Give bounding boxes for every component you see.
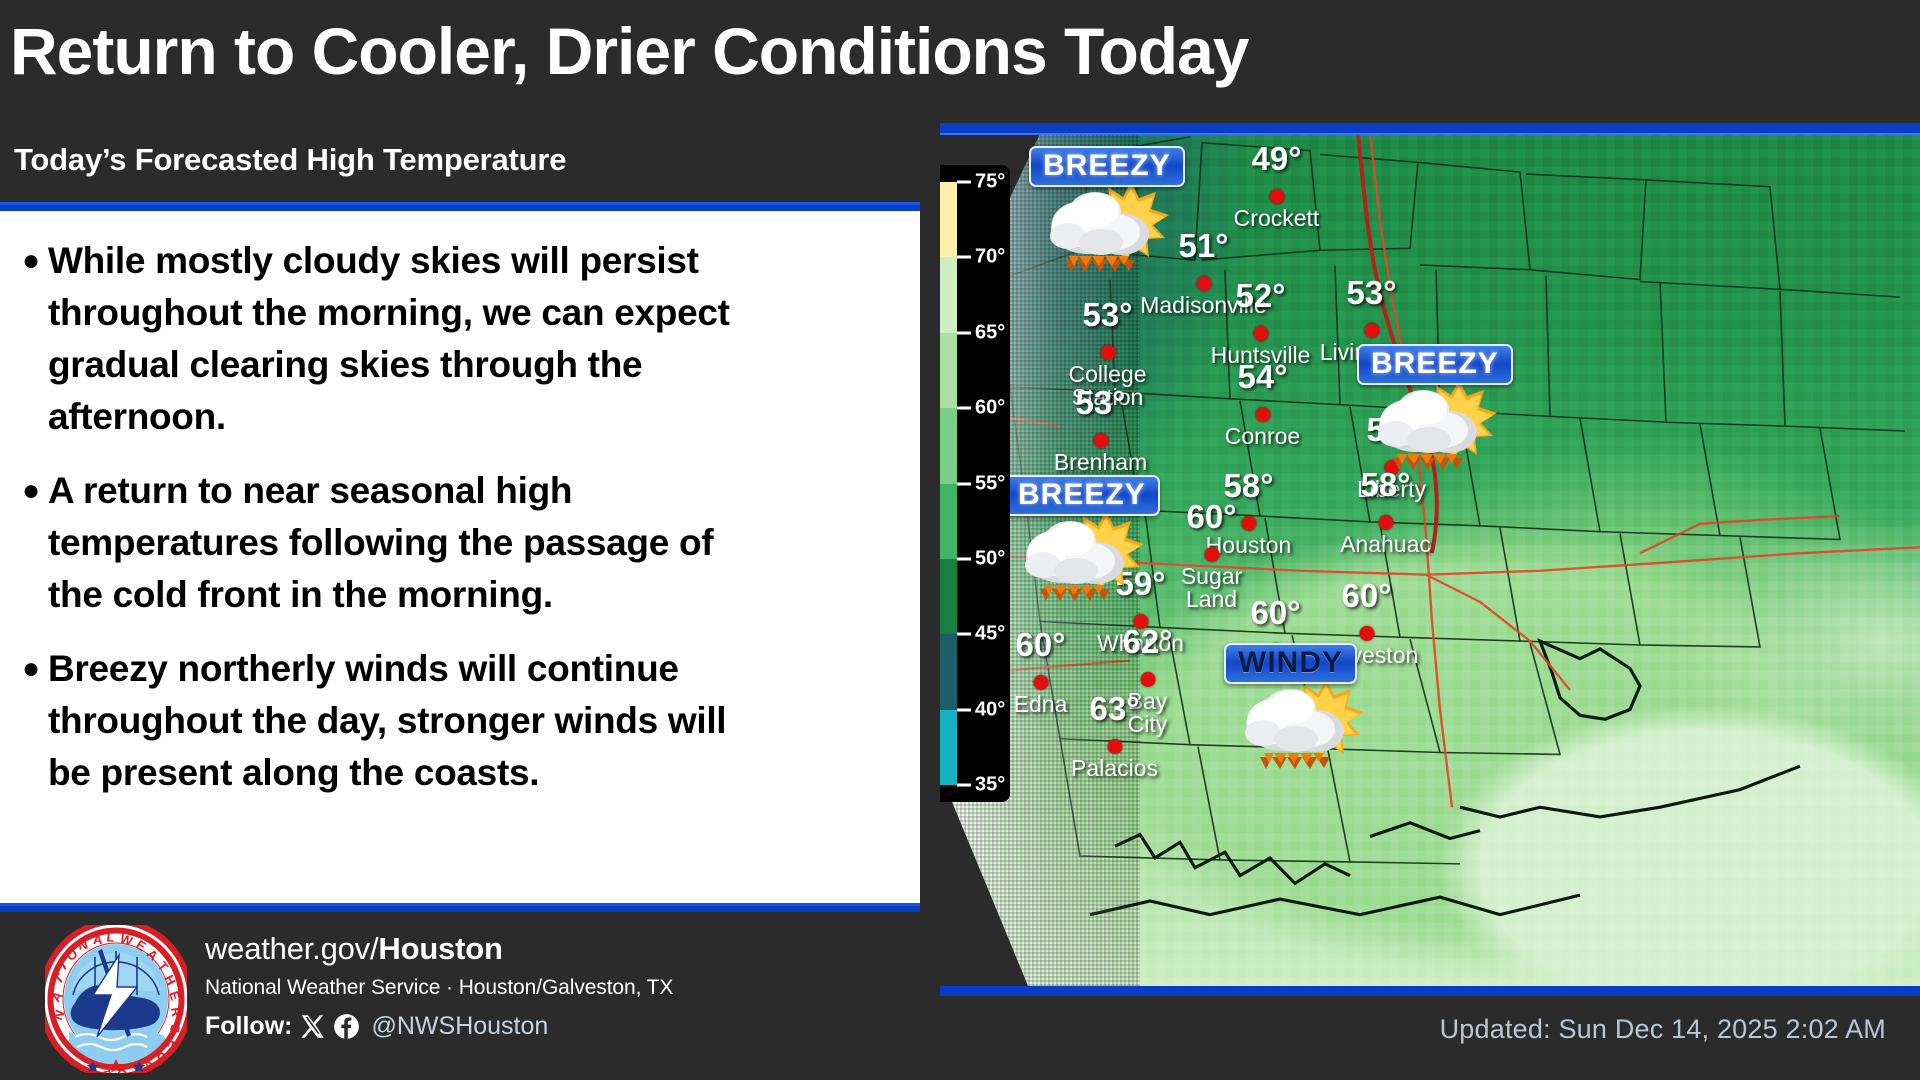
updated-timestamp: Updated: Sun Dec 14, 2025 2:02 AM [1440, 1014, 1886, 1045]
city-temperature-marker: 52°Huntsville [1260, 326, 1261, 327]
colorbar-band [940, 710, 957, 785]
forecast-map-panel: BREEZY BREEZY BREEZY [940, 123, 1920, 996]
city-temperature-marker: 49°Crockett [1276, 189, 1277, 190]
wind-badge-label: BREEZY [1029, 146, 1185, 187]
header-divider [0, 202, 920, 211]
city-point-icon [1093, 433, 1108, 448]
colorbar-band [940, 484, 957, 559]
city-temperature-value: 53° [1076, 384, 1126, 422]
city-temperature-marker: 60°SugarLand [1211, 547, 1212, 548]
colorbar-tick-label: 40° [975, 698, 1005, 721]
city-temperature-value: 60° [1187, 498, 1237, 536]
wind-condition-badge: WINDY [1224, 643, 1357, 684]
footer-url[interactable]: weather.gov/Houston [205, 931, 905, 967]
colorbar-tick-label: 75° [975, 171, 1005, 194]
city-temperature-marker: 60°Edna [1040, 675, 1041, 676]
colorbar-tick-label: 50° [975, 547, 1005, 570]
footer-office: National Weather Service · Houston/Galve… [205, 976, 905, 1000]
city-temperature-value: 60° [1251, 594, 1301, 632]
city-temperature-marker: 51°Madisonville [1203, 276, 1204, 277]
city-point-icon [1378, 515, 1393, 530]
wind-badge-label: WINDY [1224, 643, 1357, 684]
city-name-label: Edna [1014, 693, 1068, 716]
follow-label: Follow: [205, 1012, 292, 1041]
social-handle[interactable]: @NWSHouston [371, 1012, 548, 1041]
colorbar-band [940, 634, 957, 709]
city-temperature-value: 53° [1083, 296, 1133, 334]
colorbar-band [940, 408, 957, 483]
colorbar-tick-mark [957, 708, 971, 711]
city-point-icon [1255, 407, 1270, 422]
svg-text:A: A [93, 932, 103, 947]
x-twitter-icon[interactable] [299, 1013, 326, 1040]
colorbar-band [940, 182, 957, 257]
colorbar-tick-label: 65° [975, 321, 1005, 344]
city-point-icon [1107, 739, 1122, 754]
wind-badge-label: BREEZY [1357, 344, 1513, 385]
colorbar-band [940, 333, 957, 408]
footer-url-plain: weather.gov/ [205, 931, 378, 966]
discussion-panel: ●While mostly cloudy skies will persist … [0, 211, 920, 903]
city-point-icon [1364, 323, 1379, 338]
colorbar-tick-label: 35° [975, 774, 1005, 797]
nws-logo: N A T I O N A L W E A T H E R S E [45, 925, 187, 1073]
bullet-text: A return to near seasonal high temperatu… [48, 465, 914, 621]
bullet-text: Breezy northerly winds will continue thr… [48, 643, 914, 799]
city-temperature-value: 63° [1090, 690, 1140, 728]
temperature-colorbar: High Temperature (F) 75°70°65°60°55°50°4… [940, 165, 1010, 802]
footer-bar: N A T I O N A L W E A T H E R S E [0, 903, 920, 1080]
colorbar-tick-mark [957, 482, 971, 485]
city-temperature-marker: 62°BayCity [1147, 672, 1148, 673]
wind-badge-label: BREEZY [1004, 475, 1160, 516]
colorbar-gradient [940, 182, 957, 785]
wind-condition-badge: BREEZY [1029, 146, 1185, 187]
city-point-icon [1253, 326, 1268, 341]
city-temperature-value: 49° [1252, 140, 1302, 178]
city-temperature-marker: 53°Brenham [1100, 433, 1101, 434]
city-name-label: Anahuac [1340, 533, 1431, 556]
colorbar-tick-label: 55° [975, 472, 1005, 495]
city-temperature-value: 60° [1342, 577, 1392, 615]
city-temperature-marker: 58°Houston [1248, 516, 1249, 517]
colorbar-tick-labels: 75°70°65°60°55°50°45°40°35° [957, 182, 1010, 785]
city-temperature-value: 53° [1347, 274, 1397, 312]
bullet-list: ●While mostly cloudy skies will persist … [14, 235, 914, 821]
bullet-item: ●Breezy northerly winds will continue th… [14, 643, 914, 799]
colorbar-tick-mark [957, 256, 971, 259]
bullet-dot-icon: ● [14, 643, 48, 695]
colorbar-tick-mark [957, 557, 971, 560]
colorbar-tick-label: 70° [975, 246, 1005, 269]
city-temperature-marker: 59°Wharton [1140, 614, 1141, 615]
city-temperature-value: 62° [1123, 623, 1173, 661]
colorbar-tick-mark [957, 407, 971, 410]
city-name-label: Brenham [1054, 451, 1147, 474]
facebook-icon[interactable] [333, 1013, 360, 1040]
city-point-icon [1100, 345, 1115, 360]
city-point-icon [1196, 276, 1211, 291]
city-point-icon [1359, 626, 1374, 641]
city-temperature-marker: 60°Galveston [1366, 626, 1367, 627]
city-temperature-value: 51° [1179, 227, 1229, 265]
bullet-text: While mostly cloudy skies will persist t… [48, 235, 914, 443]
colorbar-band [940, 559, 957, 634]
weather-graphic: BREEZY BREEZY BREEZY [0, 0, 1920, 1080]
colorbar-tick-label: 45° [975, 623, 1005, 646]
footer-divider [0, 903, 920, 912]
city-point-icon [1241, 516, 1256, 531]
city-name-label: SugarLand [1181, 565, 1242, 611]
city-temperature-value: 52° [1236, 277, 1286, 315]
city-temperature-marker: 54°Conroe [1262, 407, 1263, 408]
city-point-icon [1033, 675, 1048, 690]
city-temperature-marker: 53°CollegeStation [1107, 345, 1108, 346]
city-name-label: Palacios [1071, 757, 1158, 780]
bullet-dot-icon: ● [14, 465, 48, 517]
colorbar-tick-mark [957, 633, 971, 636]
colorbar-tick-mark [957, 181, 971, 184]
colorbar-tick-label: 60° [975, 397, 1005, 420]
city-temperature-marker: 58°Anahuac [1385, 515, 1386, 516]
page-title: Return to Cooler, Drier Conditions Today [10, 18, 1710, 84]
city-temperature-marker: 53°Livingston [1371, 323, 1372, 324]
colorbar-tick-mark [957, 331, 971, 334]
wind-condition-badge: BREEZY [1357, 344, 1513, 385]
footer-social: Follow: @NWSHouston [205, 1012, 905, 1041]
bullet-item: ●A return to near seasonal high temperat… [14, 465, 914, 621]
city-temperature-value: 54° [1238, 358, 1288, 396]
city-point-icon [1204, 547, 1219, 562]
city-name-label: Conroe [1225, 425, 1300, 448]
city-temperature-marker: 63°Palacios [1114, 739, 1115, 740]
bullet-item: ●While mostly cloudy skies will persist … [14, 235, 914, 443]
colorbar-band [940, 257, 957, 332]
footer-text-block: weather.gov/Houston National Weather Ser… [205, 931, 905, 1041]
bullet-dot-icon: ● [14, 235, 48, 287]
city-name-label: Crockett [1234, 207, 1320, 230]
footer-url-bold: Houston [378, 931, 502, 966]
colorbar-tick-mark [957, 784, 971, 787]
wind-condition-badge: BREEZY [1004, 475, 1160, 516]
city-point-icon [1140, 672, 1155, 687]
page-subtitle: Today’s Forecasted High Temperature [14, 142, 566, 178]
city-point-icon [1269, 189, 1284, 204]
header-bar: Return to Cooler, Drier Conditions Today… [0, 0, 920, 210]
city-temperature-value: 60° [1016, 626, 1066, 664]
